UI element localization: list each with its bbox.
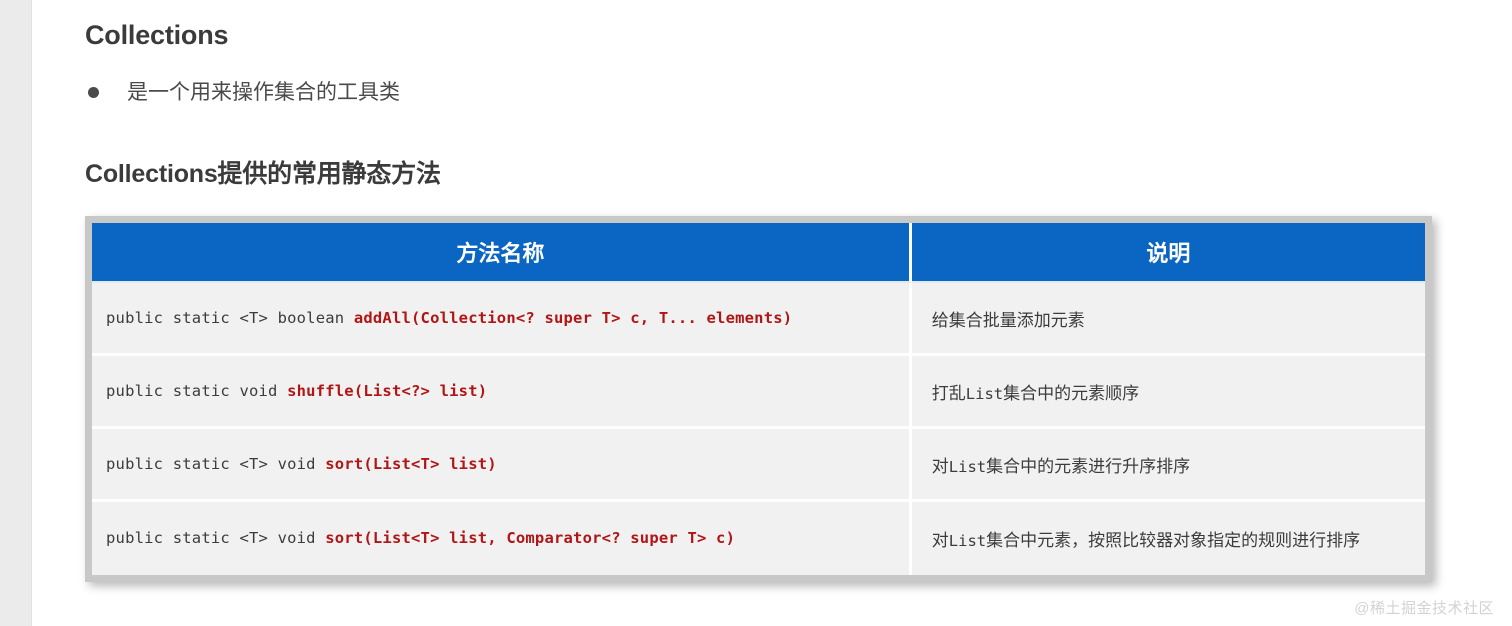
bullet-list-item-label: 是一个用来操作集合的工具类 xyxy=(127,80,400,105)
method-code: public static <T> void sort(List<T> list… xyxy=(106,529,735,547)
method-signature: sort(List<T> list) xyxy=(325,455,497,473)
cell-method-description: 对List集合中的元素进行升序排序 xyxy=(912,429,1425,502)
column-header-description: 说明 xyxy=(912,223,1425,283)
method-modifiers: public static <T> boolean xyxy=(106,309,354,327)
table-header: 方法名称 说明 xyxy=(92,223,1425,283)
article-content: Collections 是一个用来操作集合的工具类 Collections提供的… xyxy=(85,0,1512,626)
method-signature: shuffle(List<?> list) xyxy=(287,382,487,400)
methods-table-container: 方法名称 说明 public static <T> boolean addAll… xyxy=(85,216,1432,582)
table-row: public static <T> void sort(List<T> list… xyxy=(92,502,1425,575)
method-modifiers: public static <T> void xyxy=(106,529,325,547)
description-mono: List xyxy=(966,385,1003,403)
method-description: 对List集合中元素，按照比较器对象指定的规则进行排序 xyxy=(926,531,1360,550)
table-header-row: 方法名称 说明 xyxy=(92,223,1425,283)
page-title: Collections xyxy=(85,20,228,51)
method-code: public static <T> void sort(List<T> list… xyxy=(106,455,497,473)
cell-method-signature: public static <T> void sort(List<T> list… xyxy=(92,429,912,502)
column-header-method: 方法名称 xyxy=(92,223,912,283)
methods-table: 方法名称 说明 public static <T> boolean addAll… xyxy=(92,223,1425,575)
page-canvas: Collections 是一个用来操作集合的工具类 Collections提供的… xyxy=(0,0,1512,626)
method-description: 打乱List集合中的元素顺序 xyxy=(926,384,1139,403)
method-signature: sort(List<T> list, Comparator<? super T>… xyxy=(325,529,735,547)
cell-method-signature: public static void shuffle(List<?> list) xyxy=(92,356,912,429)
method-description: 给集合批量添加元素 xyxy=(926,311,1085,330)
cell-method-description: 给集合批量添加元素 xyxy=(912,283,1425,356)
bullet-dot-icon xyxy=(88,87,99,98)
cell-method-description: 对List集合中元素，按照比较器对象指定的规则进行排序 xyxy=(912,502,1425,575)
description-mono: List xyxy=(949,458,986,476)
table-row: public static <T> void sort(List<T> list… xyxy=(92,429,1425,502)
method-modifiers: public static <T> void xyxy=(106,455,325,473)
cell-method-description: 打乱List集合中的元素顺序 xyxy=(912,356,1425,429)
method-code: public static void shuffle(List<?> list) xyxy=(106,382,487,400)
cell-method-signature: public static <T> void sort(List<T> list… xyxy=(92,502,912,575)
bullet-list-item: 是一个用来操作集合的工具类 xyxy=(88,80,400,105)
section-heading: Collections提供的常用静态方法 xyxy=(85,154,441,190)
cell-method-signature: public static <T> boolean addAll(Collect… xyxy=(92,283,912,356)
description-pre: 给集合批量添加元素 xyxy=(932,311,1085,330)
method-description: 对List集合中的元素进行升序排序 xyxy=(926,457,1190,476)
description-pre: 对 xyxy=(932,531,949,550)
description-post: 集合中元素，按照比较器对象指定的规则进行排序 xyxy=(986,531,1360,550)
method-signature: addAll(Collection<? super T> c, T... ele… xyxy=(354,309,792,327)
description-pre: 打乱 xyxy=(932,384,966,403)
description-post: 集合中的元素顺序 xyxy=(1003,384,1139,403)
table-row: public static void shuffle(List<?> list)… xyxy=(92,356,1425,429)
description-mono: List xyxy=(949,532,986,550)
method-code: public static <T> boolean addAll(Collect… xyxy=(106,309,792,327)
method-modifiers: public static void xyxy=(106,382,287,400)
table-body: public static <T> boolean addAll(Collect… xyxy=(92,283,1425,575)
left-gutter xyxy=(0,0,32,626)
watermark: @稀土掘金技术社区 xyxy=(1354,597,1494,618)
description-pre: 对 xyxy=(932,457,949,476)
description-post: 集合中的元素进行升序排序 xyxy=(986,457,1190,476)
table-row: public static <T> boolean addAll(Collect… xyxy=(92,283,1425,356)
